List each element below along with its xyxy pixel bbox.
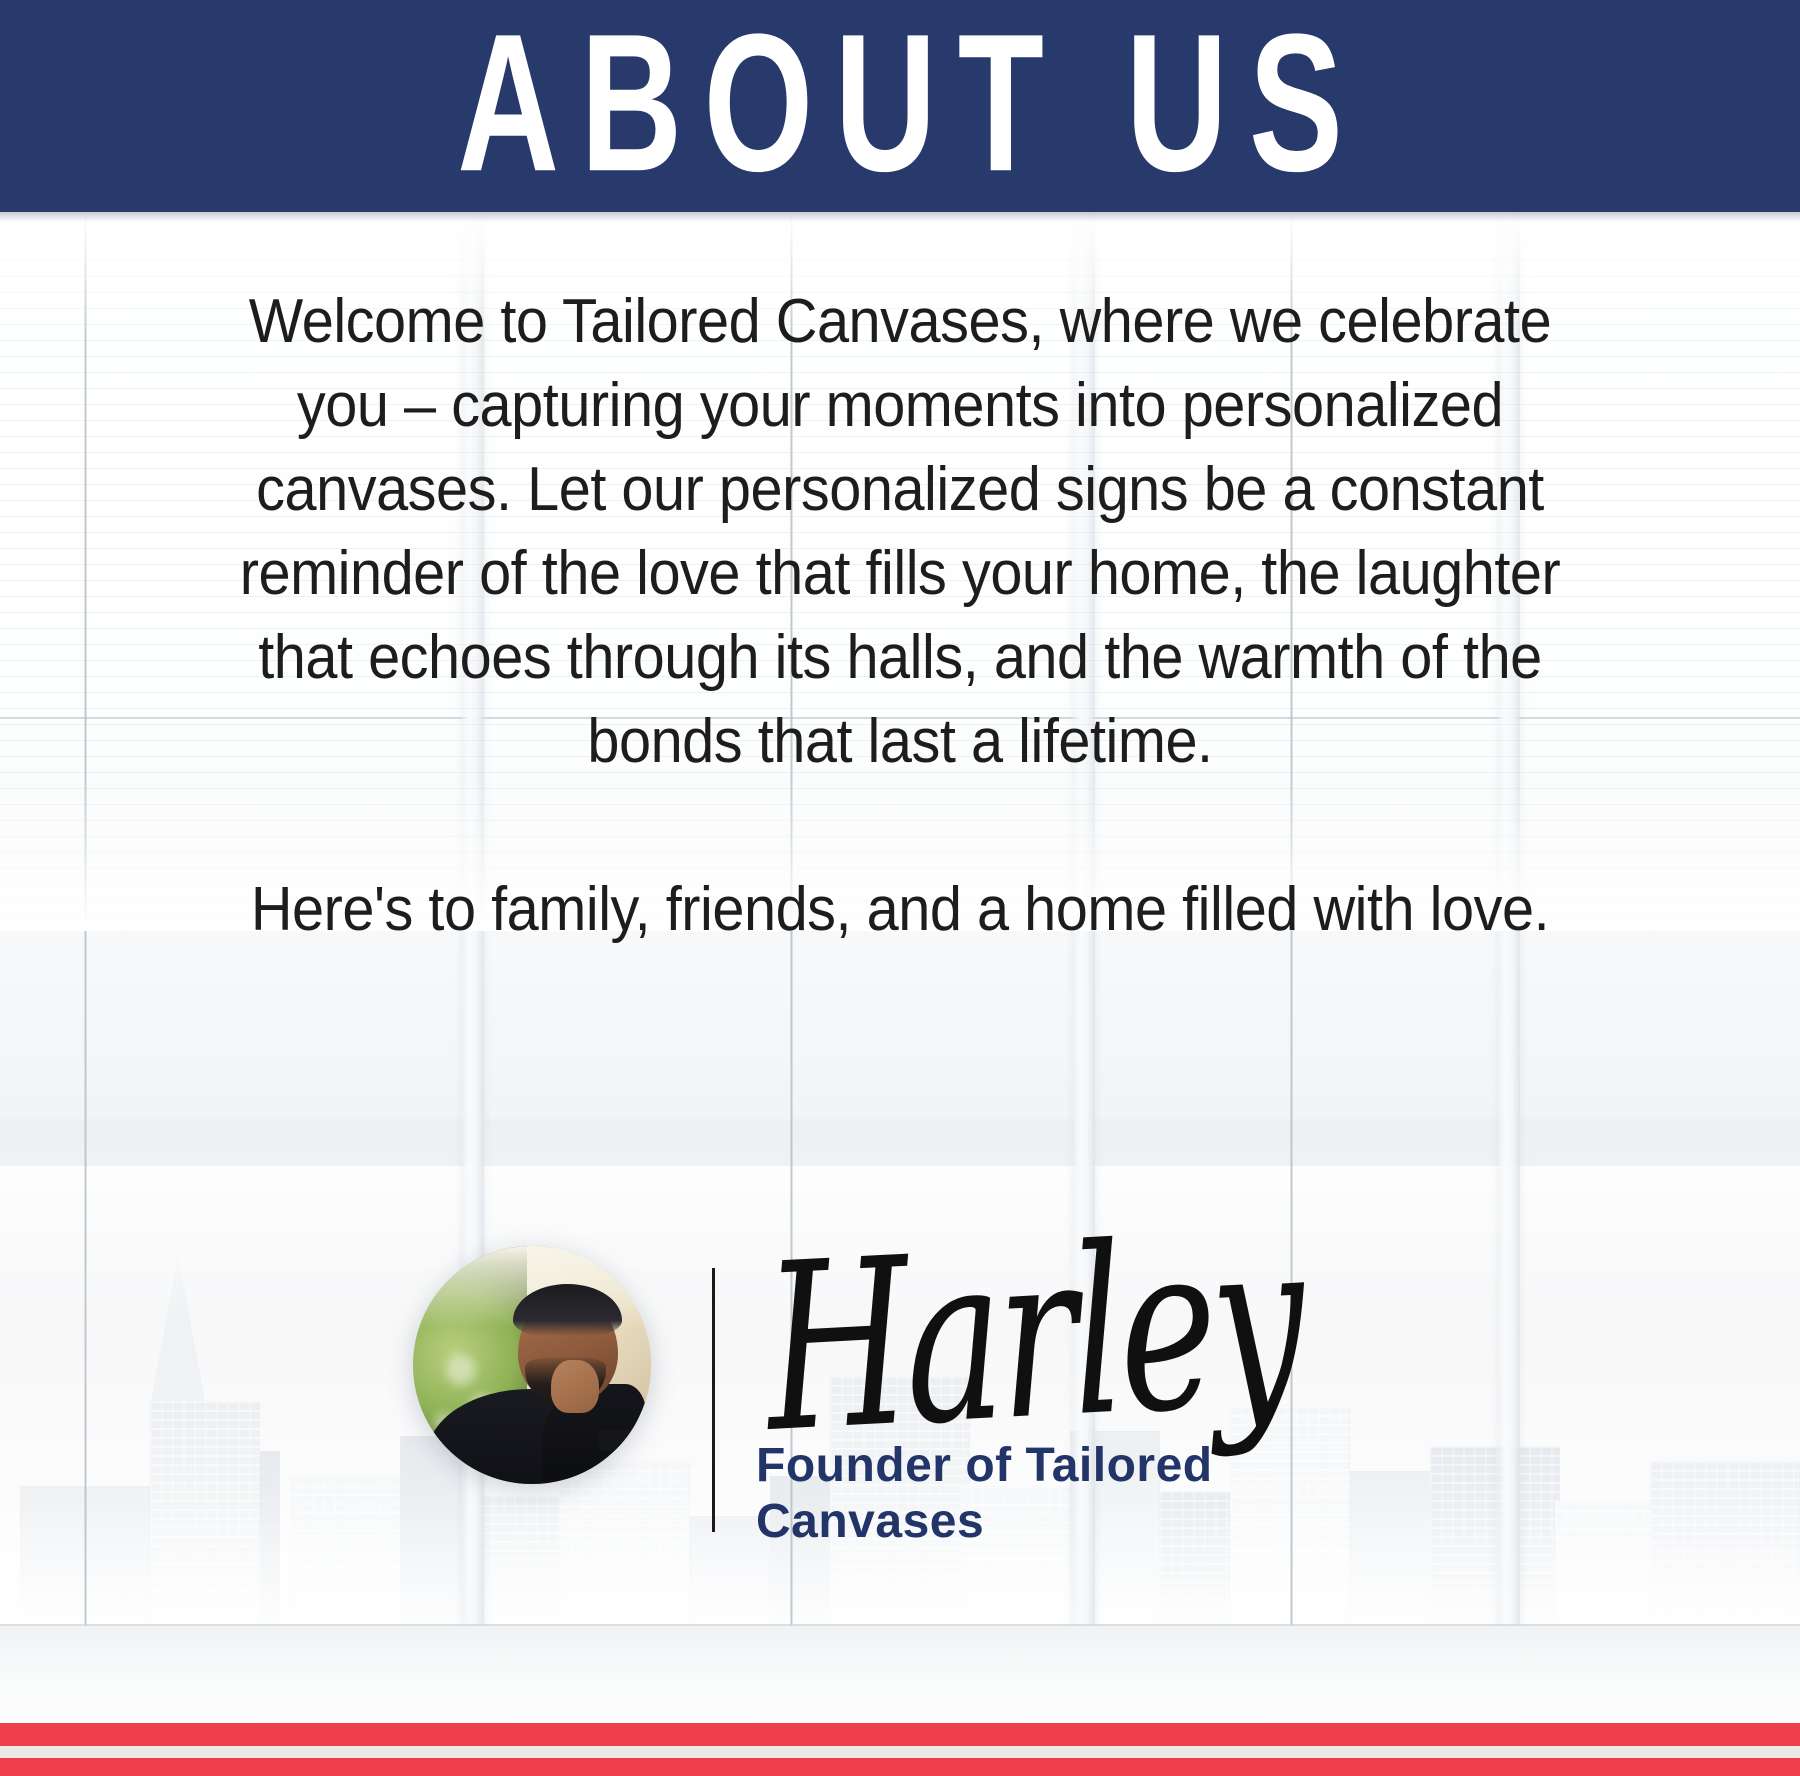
footer-stripe-top (0, 1723, 1800, 1746)
founder-title-line-1: Founder of Tailored (756, 1438, 1316, 1494)
paragraph-spacer (240, 784, 1561, 868)
footer-stripe-bottom (0, 1758, 1800, 1776)
header-shadow (0, 212, 1800, 222)
about-body-copy: Welcome to Tailored Canvases, where we c… (240, 280, 1561, 952)
founder-title-line-2: Canvases (756, 1494, 1316, 1550)
about-paragraph-1: Welcome to Tailored Canvases, where we c… (240, 280, 1561, 784)
avatar (413, 1246, 651, 1484)
page-title: ABOUT US (436, 5, 1364, 201)
page-header: ABOUT US (0, 0, 1800, 212)
about-us-poster: ABOUT US Welcome to Tailored Canvases, w… (0, 0, 1800, 1776)
footer-stripe-gap (0, 1746, 1800, 1758)
founder-signature: Harley (760, 1208, 1305, 1466)
founder-title: Founder of Tailored Canvases (756, 1438, 1316, 1550)
about-paragraph-2: Here's to family, friends, and a home fi… (240, 868, 1561, 952)
signature-divider (712, 1268, 715, 1532)
founder-portrait-image (413, 1246, 651, 1484)
founder-block: Harley Founder of Tailored Canvases (0, 1246, 1800, 1576)
